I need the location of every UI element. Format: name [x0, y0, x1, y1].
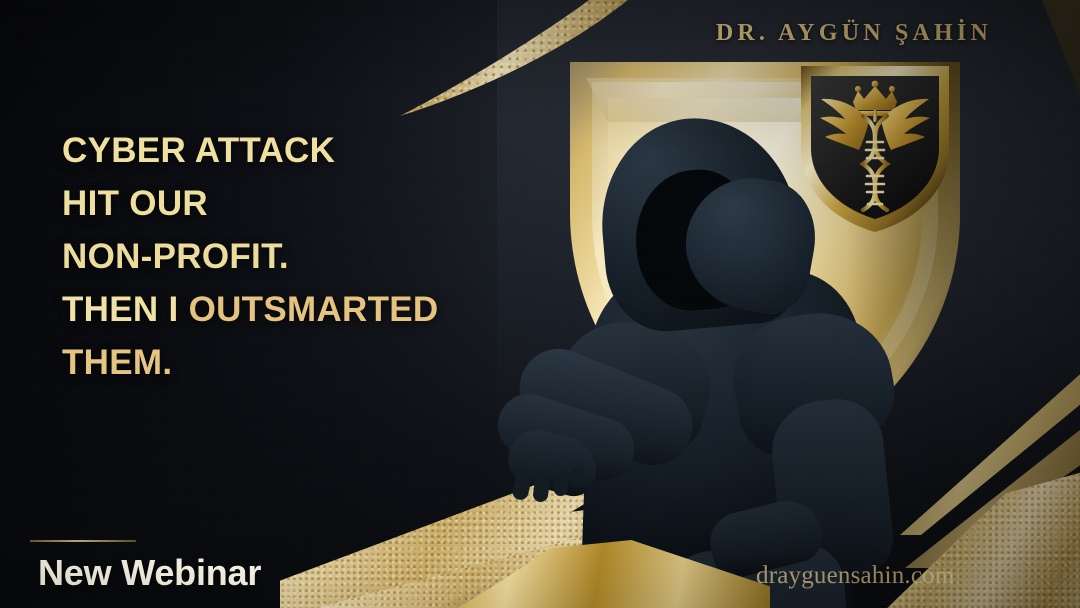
background-vignette	[0, 0, 1080, 608]
promo-banner: DR. AYGÜN ŞAHİN CYBER ATTACK HIT OUR NON…	[0, 0, 1080, 608]
